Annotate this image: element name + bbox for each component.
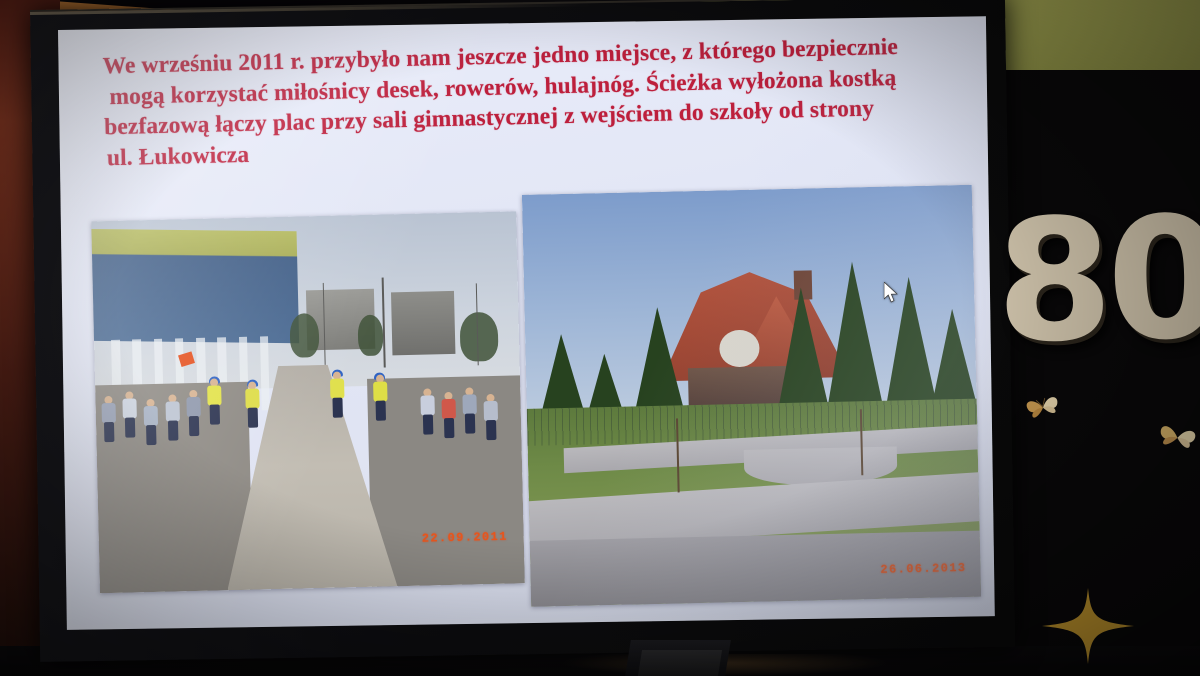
sparkle-star-icon bbox=[1042, 588, 1134, 664]
photo-legs bbox=[444, 417, 454, 437]
photo-jacket bbox=[165, 401, 179, 421]
photo-legs bbox=[104, 422, 114, 442]
photo-jacket bbox=[101, 403, 115, 423]
photo-jacket bbox=[441, 398, 455, 418]
photo-skateboard-event[interactable]: 22.09.2011 bbox=[91, 211, 525, 593]
photo-legs bbox=[486, 420, 496, 440]
photo-tree bbox=[357, 315, 383, 356]
photo-new-paved-path[interactable]: 26.06.2013 bbox=[522, 185, 981, 607]
photo-legs bbox=[422, 414, 432, 434]
photo-jacket bbox=[420, 395, 434, 415]
photo-date-stamp: 26.06.2013 bbox=[880, 561, 966, 577]
photo-shirt bbox=[207, 385, 221, 405]
photo-legs bbox=[248, 407, 258, 427]
slide-headline: We wrześniu 2011 r. przybyło nam jeszcze… bbox=[102, 31, 955, 174]
photo-shirt bbox=[373, 381, 387, 401]
photo-jacket bbox=[462, 394, 476, 414]
photo-legs bbox=[333, 398, 343, 418]
photo-legs bbox=[375, 400, 385, 420]
photo-legs bbox=[167, 420, 177, 440]
photo-legs bbox=[125, 418, 135, 438]
photo-background-building bbox=[390, 291, 455, 356]
stand-object bbox=[638, 650, 722, 676]
photo-legs bbox=[189, 416, 199, 436]
photo-shirt bbox=[245, 388, 259, 408]
photo-shirt bbox=[330, 379, 344, 399]
photo-legs bbox=[146, 424, 156, 444]
photo-jacket bbox=[186, 397, 200, 417]
anniversary-number-80: 80 bbox=[995, 194, 1200, 366]
photo-legs bbox=[465, 413, 475, 433]
presentation-slide[interactable]: We wrześniu 2011 r. przybyło nam jeszcze… bbox=[58, 16, 995, 630]
photo-tree bbox=[459, 312, 498, 361]
photo-chimney bbox=[794, 271, 813, 300]
photo-gym-building bbox=[91, 229, 298, 343]
screenshot-root: We wrześniu 2011 r. przybyło nam jeszcze… bbox=[0, 0, 1200, 676]
photo-jacket bbox=[484, 401, 498, 421]
photo-jacket bbox=[122, 398, 136, 418]
photo-date-stamp: 22.09.2011 bbox=[422, 530, 508, 546]
photo-jacket bbox=[144, 405, 158, 425]
photo-tree bbox=[289, 313, 320, 358]
photo-legs bbox=[210, 404, 220, 424]
gym-window bbox=[260, 336, 270, 411]
